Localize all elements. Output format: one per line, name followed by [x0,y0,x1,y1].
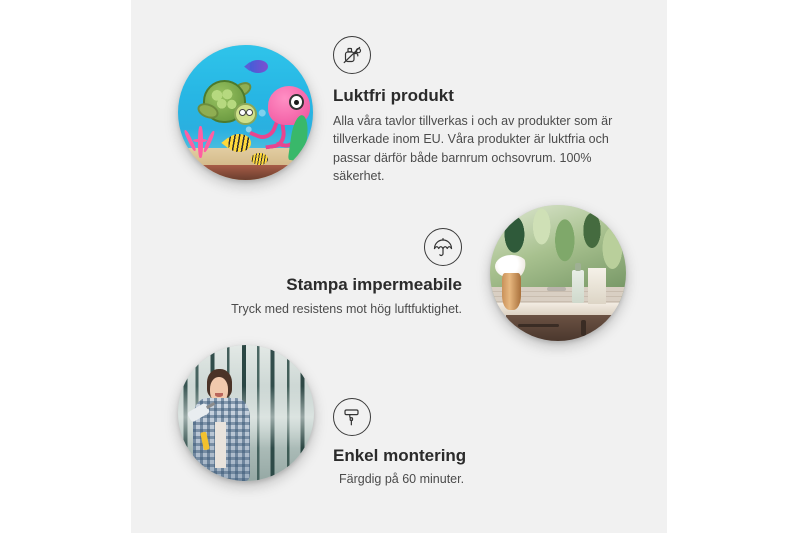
octopus-eye [289,94,304,110]
feature-odorless: Luktfri produkt Alla våra tavlor tillver… [333,36,623,185]
feature-title: Enkel montering [333,445,583,466]
faucet [547,287,566,291]
image-forest-mural-painter [178,345,314,481]
feature-waterproof: Stampa impermeabile Tryck med resistens … [180,228,462,318]
feature-title: Stampa impermeabile [180,274,462,295]
yellow-striped-fish [227,134,251,152]
wood-vanity [506,315,626,341]
soap-dispenser [572,270,584,303]
feature-easy-mounting: Enkel montering Färgdig på 60 minuter. [333,398,583,488]
umbrella-icon [424,228,462,266]
image-bathroom-leaf-mural [490,205,626,341]
shirt-inner [215,422,227,468]
gold-vase [502,273,521,310]
icon-wrapper [180,228,462,266]
pink-coral [182,118,223,159]
towel [588,268,606,305]
product-feature-panel: Luktfri produkt Alla våra tavlor tillver… [0,0,800,533]
feature-description: Tryck med resistens mot hög luftfuktighe… [180,300,462,318]
sea-floor-strip [178,165,313,180]
feature-description: Alla våra tavlor tillverkas i och av pro… [333,112,618,185]
feature-title: Luktfri produkt [333,85,623,106]
no-perfume-bottle-icon [333,36,371,74]
woman-painter [192,369,255,481]
image-underwater-mural [178,45,313,180]
feature-description: Färgdig på 60 minuter. [333,470,583,488]
paint-roller-icon [333,398,371,436]
